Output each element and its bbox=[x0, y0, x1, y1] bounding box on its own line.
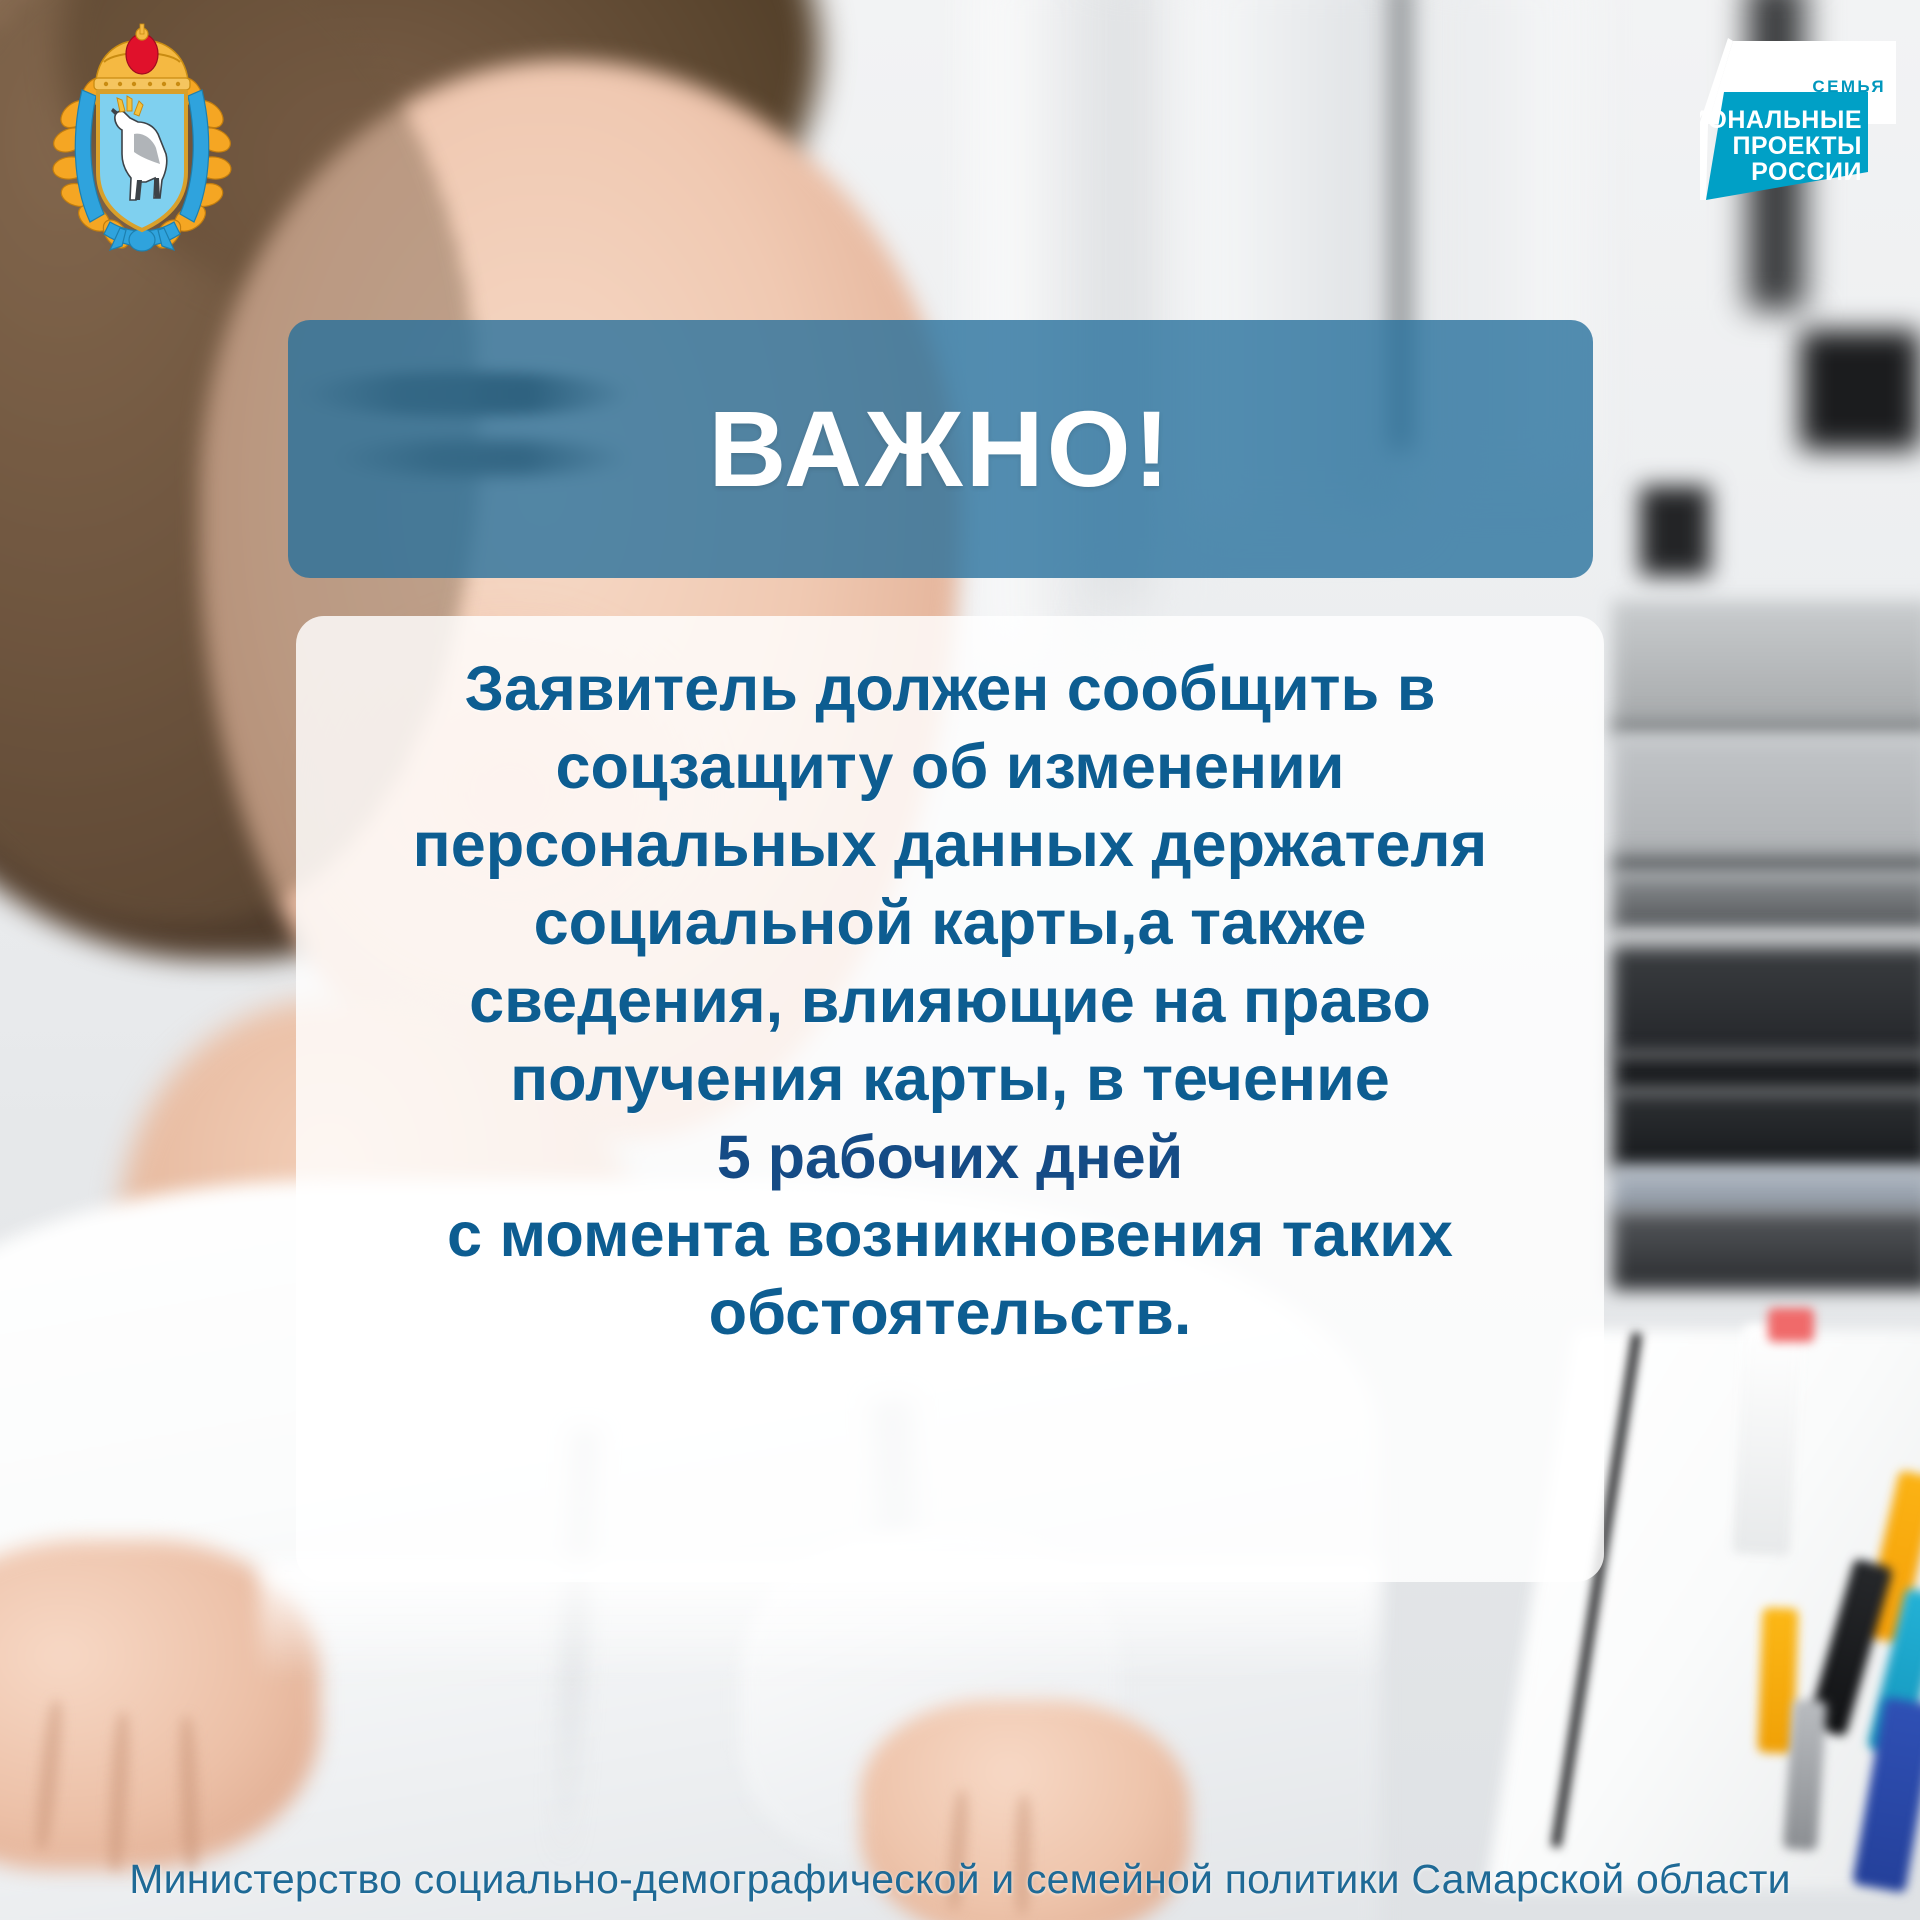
footer-ministry-name: Министерство социально-демографической и… bbox=[129, 1854, 1791, 1904]
pen-red-cap bbox=[1768, 1308, 1814, 1342]
background-shelf-band-5 bbox=[1612, 874, 1920, 934]
np-line-1: НАЦИОНАЛЬНЫЕ bbox=[1700, 106, 1862, 134]
national-projects-russia-logo-icon: СЕМЬЯ НАЦИОНАЛЬНЫЕ ПРОЕКТЫ РОССИИ bbox=[1700, 32, 1906, 214]
background-shelf-band-3 bbox=[1612, 735, 1920, 855]
message-line: получения карты, в течение bbox=[510, 1040, 1390, 1118]
background-shelf-band-4 bbox=[1612, 853, 1920, 875]
background-shelf-band-9 bbox=[1612, 1090, 1920, 1170]
background-shelf-band-1 bbox=[1612, 600, 1920, 720]
message-line: соцзащиту об изменении bbox=[555, 728, 1344, 806]
np-line-3: РОССИИ bbox=[1751, 158, 1862, 186]
background-shelf-band-10 bbox=[1612, 1168, 1920, 1214]
message-line: персональных данных держателя bbox=[413, 806, 1488, 884]
pen-white bbox=[1732, 1324, 1802, 1557]
background-monitor-dark bbox=[1800, 330, 1920, 450]
message-line: Заявитель должен сообщить в bbox=[465, 650, 1436, 728]
important-banner: ВАЖНО! bbox=[288, 320, 1593, 578]
message-line: с момента возникновения таких bbox=[447, 1196, 1453, 1274]
background-shelf-band-2 bbox=[1612, 718, 1920, 736]
poster-canvas: СЕМЬЯ НАЦИОНАЛЬНЫЕ ПРОЕКТЫ РОССИИ ВАЖНО!… bbox=[0, 0, 1920, 1920]
message-card: Заявитель должен сообщить в соцзащиту об… bbox=[296, 616, 1604, 1582]
background-monitor-small bbox=[1640, 486, 1710, 576]
banner-title: ВАЖНО! bbox=[708, 395, 1172, 503]
samara-oblast-coat-of-arms-icon bbox=[42, 22, 242, 272]
footer: Министерство социально-демографической и… bbox=[0, 1854, 1920, 1904]
message-line: обстоятельств. bbox=[709, 1274, 1192, 1352]
background-shelf-band-11 bbox=[1612, 1210, 1920, 1290]
np-tagline: СЕМЬЯ bbox=[1812, 77, 1886, 96]
np-line-2: ПРОЕКТЫ bbox=[1732, 132, 1862, 160]
background-shelf-band-8 bbox=[1612, 1053, 1920, 1093]
background-shelf-band-7 bbox=[1612, 946, 1920, 1056]
message-line-highlight: 5 рабочих дней bbox=[717, 1118, 1183, 1196]
message-line: сведения, влияющие на право bbox=[469, 962, 1431, 1040]
message-line: социальной карты,а также bbox=[534, 884, 1367, 962]
